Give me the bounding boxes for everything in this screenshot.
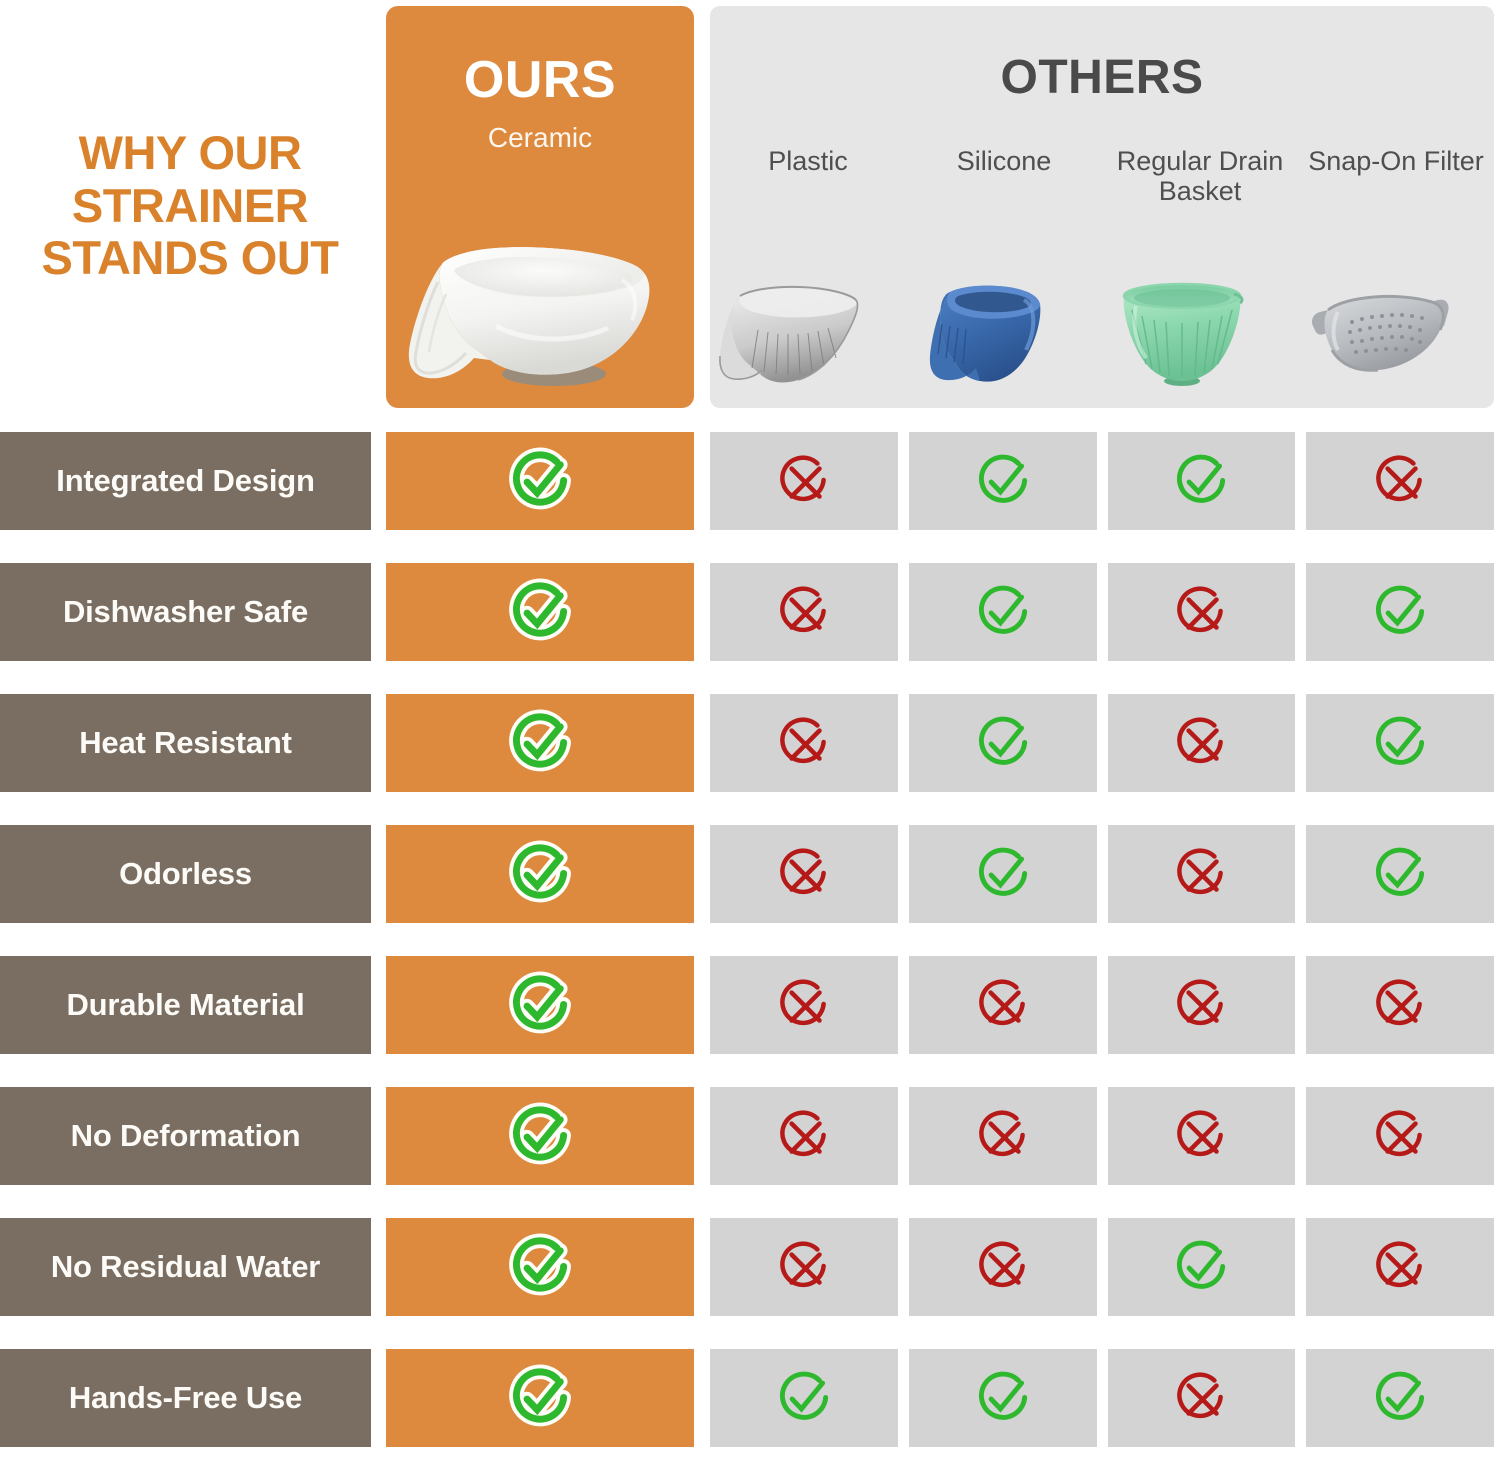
feature-label: Odorless bbox=[111, 858, 260, 891]
feature-label-cell: Hands-Free Use bbox=[0, 1349, 371, 1447]
white-ceramic-strainer-bowl-icon bbox=[386, 202, 694, 402]
other-result-cell bbox=[1108, 1349, 1296, 1447]
title-cell: WHY OUR STRAINER STANDS OUT bbox=[0, 0, 380, 412]
check-circle-icon bbox=[970, 448, 1036, 514]
other-result-cell bbox=[710, 1218, 898, 1316]
check-circle-icon bbox=[1168, 448, 1234, 514]
other-result-cell bbox=[909, 1087, 1097, 1185]
table-row: No Deformation bbox=[0, 1067, 1500, 1198]
check-circle-icon bbox=[970, 841, 1036, 907]
cross-circle-icon bbox=[970, 1103, 1036, 1169]
feature-label: Hands-Free Use bbox=[61, 1382, 310, 1415]
table-row: Heat Resistant bbox=[0, 674, 1500, 805]
cross-circle-icon bbox=[1168, 710, 1234, 776]
other-result-cell bbox=[1306, 956, 1494, 1054]
feature-label-cell: Odorless bbox=[0, 825, 371, 923]
cross-circle-icon bbox=[970, 972, 1036, 1038]
comparison-grid: Integrated Design bbox=[0, 412, 1500, 1460]
feature-label-cell: No Residual Water bbox=[0, 1218, 371, 1316]
others-column-plastic: Plastic bbox=[710, 146, 906, 408]
cross-circle-icon bbox=[1168, 579, 1234, 645]
cross-circle-icon bbox=[1168, 1103, 1234, 1169]
other-result-cell bbox=[1108, 1218, 1296, 1316]
check-circle-icon bbox=[1367, 1365, 1433, 1431]
other-result-cell bbox=[1108, 956, 1296, 1054]
ours-result-cell bbox=[386, 1349, 694, 1447]
cross-circle-icon bbox=[771, 972, 837, 1038]
check-circle-icon bbox=[504, 969, 576, 1041]
ours-label: OURS bbox=[386, 54, 694, 106]
cross-circle-icon bbox=[1367, 448, 1433, 514]
other-result-cell bbox=[1306, 694, 1494, 792]
feature-label: Heat Resistant bbox=[71, 727, 300, 760]
feature-label-cell: Heat Resistant bbox=[0, 694, 371, 792]
table-row: No Residual Water bbox=[0, 1198, 1500, 1329]
ours-result-cell bbox=[386, 694, 694, 792]
blue-silicone-strainer-icon bbox=[906, 276, 1102, 394]
table-row: Odorless bbox=[0, 805, 1500, 936]
feature-label-cell: Dishwasher Safe bbox=[0, 563, 371, 661]
other-result-cell bbox=[1306, 1218, 1494, 1316]
ours-result-cell bbox=[386, 1218, 694, 1316]
cross-circle-icon bbox=[771, 579, 837, 645]
other-result-cell bbox=[1108, 563, 1296, 661]
check-circle-icon bbox=[970, 710, 1036, 776]
cross-circle-icon bbox=[1168, 1365, 1234, 1431]
cross-circle-icon bbox=[1168, 972, 1234, 1038]
others-label: OTHERS bbox=[710, 54, 1494, 102]
cross-circle-icon bbox=[771, 1103, 837, 1169]
other-result-cell bbox=[1108, 694, 1296, 792]
other-result-cell bbox=[710, 1087, 898, 1185]
check-circle-icon bbox=[504, 838, 576, 910]
clear-plastic-strainer-bowl-icon bbox=[710, 276, 906, 394]
check-circle-icon bbox=[1367, 841, 1433, 907]
check-circle-icon bbox=[1168, 1234, 1234, 1300]
other-result-cell bbox=[1306, 1349, 1494, 1447]
others-column-label: Snap-On Filter bbox=[1298, 146, 1494, 176]
comparison-chart: WHY OUR STRAINER STANDS OUT OURS Ceramic bbox=[0, 0, 1500, 1460]
check-circle-icon bbox=[504, 1362, 576, 1434]
check-circle-icon bbox=[504, 1100, 576, 1172]
other-result-cell bbox=[1306, 1087, 1494, 1185]
other-result-cell bbox=[1306, 432, 1494, 530]
table-row: Hands-Free Use bbox=[0, 1329, 1500, 1460]
cross-circle-icon bbox=[771, 1234, 837, 1300]
other-result-cell bbox=[1306, 563, 1494, 661]
others-result-cells bbox=[710, 1218, 1494, 1316]
ours-sublabel: Ceramic bbox=[386, 124, 694, 152]
others-result-cells bbox=[710, 1349, 1494, 1447]
cross-circle-icon bbox=[1367, 1234, 1433, 1300]
check-circle-icon bbox=[504, 445, 576, 517]
cross-circle-icon bbox=[771, 841, 837, 907]
check-circle-icon bbox=[504, 576, 576, 648]
other-result-cell bbox=[909, 563, 1097, 661]
mint-green-drain-basket-icon bbox=[1102, 276, 1298, 394]
other-result-cell bbox=[710, 563, 898, 661]
ours-header-card: OURS Ceramic bbox=[386, 6, 694, 408]
other-result-cell bbox=[909, 956, 1097, 1054]
check-circle-icon bbox=[1367, 579, 1433, 645]
cross-circle-icon bbox=[1367, 1103, 1433, 1169]
ours-result-cell bbox=[386, 563, 694, 661]
table-row: Integrated Design bbox=[0, 412, 1500, 543]
other-result-cell bbox=[710, 825, 898, 923]
others-columns: Plastic bbox=[710, 146, 1494, 408]
feature-label: Integrated Design bbox=[48, 465, 322, 498]
feature-label: No Residual Water bbox=[43, 1251, 328, 1284]
check-circle-icon bbox=[970, 1365, 1036, 1431]
other-result-cell bbox=[1108, 1087, 1296, 1185]
other-result-cell bbox=[710, 432, 898, 530]
check-circle-icon bbox=[970, 579, 1036, 645]
other-result-cell bbox=[909, 1218, 1097, 1316]
other-result-cell bbox=[1108, 432, 1296, 530]
check-circle-icon bbox=[504, 1231, 576, 1303]
others-column-label: Plastic bbox=[710, 146, 906, 176]
cross-circle-icon bbox=[1168, 841, 1234, 907]
others-column-regular-drain-basket: Regular Drain Basket bbox=[1102, 146, 1298, 408]
feature-label: Durable Material bbox=[59, 989, 313, 1022]
others-result-cells bbox=[710, 432, 1494, 530]
others-header-card: OTHERS Plastic bbox=[710, 6, 1494, 408]
cross-circle-icon bbox=[970, 1234, 1036, 1300]
other-result-cell bbox=[1306, 825, 1494, 923]
check-circle-icon bbox=[771, 1365, 837, 1431]
other-result-cell bbox=[909, 1349, 1097, 1447]
ours-result-cell bbox=[386, 1087, 694, 1185]
table-row: Dishwasher Safe bbox=[0, 543, 1500, 674]
chart-header: WHY OUR STRAINER STANDS OUT OURS Ceramic bbox=[0, 0, 1500, 412]
other-result-cell bbox=[909, 825, 1097, 923]
table-row: Durable Material bbox=[0, 936, 1500, 1067]
feature-label-cell: Integrated Design bbox=[0, 432, 371, 530]
others-result-cells bbox=[710, 694, 1494, 792]
other-result-cell bbox=[710, 956, 898, 1054]
check-circle-icon bbox=[1367, 710, 1433, 776]
other-result-cell bbox=[1108, 825, 1296, 923]
others-column-label: Regular Drain Basket bbox=[1102, 146, 1298, 206]
other-result-cell bbox=[710, 1349, 898, 1447]
others-result-cells bbox=[710, 956, 1494, 1054]
other-result-cell bbox=[909, 432, 1097, 530]
gray-snap-on-filter-icon bbox=[1298, 276, 1494, 394]
others-result-cells bbox=[710, 825, 1494, 923]
other-result-cell bbox=[909, 694, 1097, 792]
feature-label: No Deformation bbox=[63, 1120, 309, 1153]
feature-label: Dishwasher Safe bbox=[55, 596, 316, 629]
feature-label-cell: Durable Material bbox=[0, 956, 371, 1054]
others-column-snap-on-filter: Snap-On Filter bbox=[1298, 146, 1494, 408]
other-result-cell bbox=[710, 694, 898, 792]
cross-circle-icon bbox=[771, 448, 837, 514]
others-column-label: Silicone bbox=[906, 146, 1102, 176]
ours-result-cell bbox=[386, 956, 694, 1054]
others-result-cells bbox=[710, 563, 1494, 661]
ours-result-cell bbox=[386, 432, 694, 530]
others-column-silicone: Silicone bbox=[906, 146, 1102, 408]
page-title: WHY OUR STRAINER STANDS OUT bbox=[25, 127, 355, 285]
feature-label-cell: No Deformation bbox=[0, 1087, 371, 1185]
cross-circle-icon bbox=[771, 710, 837, 776]
check-circle-icon bbox=[504, 707, 576, 779]
ours-result-cell bbox=[386, 825, 694, 923]
others-result-cells bbox=[710, 1087, 1494, 1185]
cross-circle-icon bbox=[1367, 972, 1433, 1038]
